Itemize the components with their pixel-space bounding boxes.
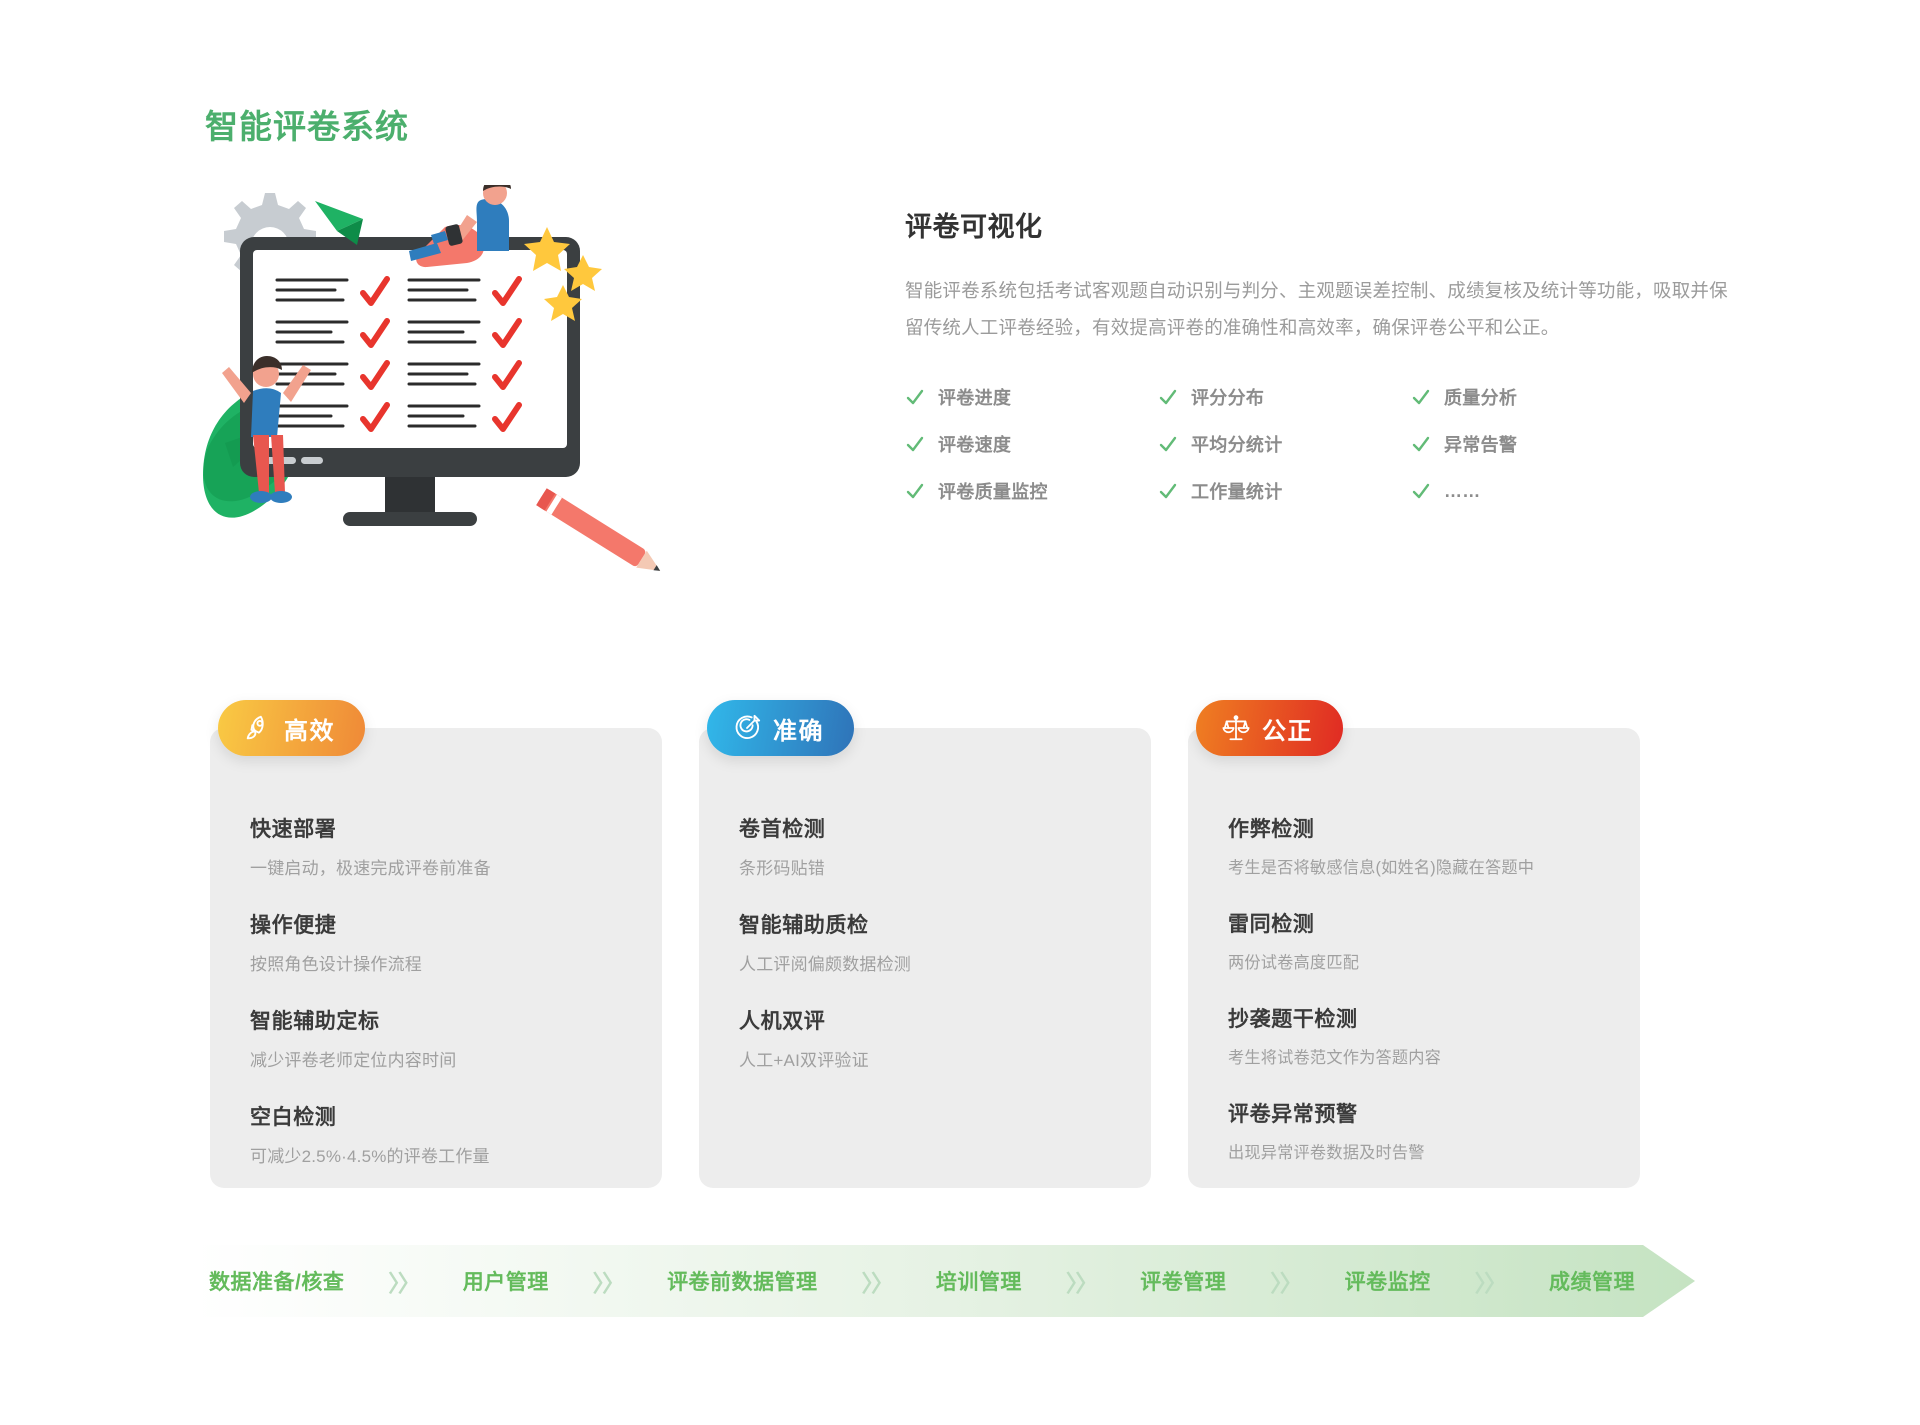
list-item-label: 评卷质量监控 [938, 478, 1048, 504]
check-icon [1411, 434, 1431, 454]
badge-efficient[interactable]: 高效 [218, 700, 365, 756]
pencil-icon [536, 488, 665, 579]
list-item: 平均分统计 [1158, 431, 1411, 457]
flow-step[interactable]: 培训管理 [936, 1266, 1022, 1296]
feature-title: 卷首检测 [739, 813, 1113, 843]
list-item-label: 异常告警 [1444, 431, 1517, 457]
process-flow: 数据准备/核查 〉〉 用户管理 〉〉 评卷前数据管理 〉〉 培训管理 〉〉 评卷… [195, 1245, 1695, 1317]
flow-step[interactable]: 评卷管理 [1140, 1266, 1226, 1296]
chevron-right-icon: 〉〉 [818, 1264, 936, 1298]
list-item: 评卷质量监控 [905, 478, 1158, 504]
chevron-right-icon: 〉〉 [344, 1264, 462, 1298]
check-icon [905, 481, 925, 501]
badge-accurate[interactable]: 准确 [707, 700, 854, 756]
flow-steps: 数据准备/核查 〉〉 用户管理 〉〉 评卷前数据管理 〉〉 培训管理 〉〉 评卷… [195, 1245, 1695, 1317]
check-icon [905, 387, 925, 407]
check-icon [905, 434, 925, 454]
card-body: 卷首检测 条形码贴错 智能辅助质检 人工评阅偏颇数据检测 人机双评 人工+AI双… [699, 728, 1151, 1188]
badge-label: 公正 [1262, 711, 1313, 746]
feature-desc: 人工评阅偏颇数据检测 [739, 950, 1113, 975]
feature-desc: 考生将试卷范文作为答题内容 [1228, 1044, 1602, 1068]
section-paragraph: 智能评卷系统包括考试客观题自动识别与判分、主观题误差控制、成绩复核及统计等功能，… [905, 272, 1737, 346]
section-heading: 评卷可视化 [905, 205, 1735, 244]
feature-item: 抄袭题干检测 考生将试卷范文作为答题内容 [1228, 1003, 1602, 1068]
scales-icon [1221, 713, 1251, 743]
feature-title: 雷同检测 [1228, 908, 1602, 938]
list-item: 评分分布 [1158, 384, 1411, 410]
flow-step[interactable]: 评卷监控 [1345, 1266, 1431, 1296]
check-icon [1158, 481, 1178, 501]
badge-label: 准确 [773, 711, 824, 746]
target-icon [732, 713, 762, 743]
hero-illustration [195, 185, 805, 615]
feature-item: 操作便捷 按照角色设计操作流程 [250, 909, 624, 975]
list-item-label: 平均分统计 [1191, 431, 1283, 457]
feature-title: 作弊检测 [1228, 813, 1602, 843]
illustration-svg [195, 185, 805, 615]
monitor-graphic [240, 237, 580, 526]
capability-checklist: 评卷进度 评分分布 质量分析 评卷速度 平均分统计 异常告警 [905, 384, 1735, 504]
feature-desc: 可减少2.5%·4.5%的评卷工作量 [250, 1142, 624, 1167]
feature-title: 智能辅助定标 [250, 1005, 624, 1035]
feature-title: 快速部署 [250, 813, 624, 843]
feature-title: 人机双评 [739, 1005, 1113, 1035]
list-item-label: 工作量统计 [1191, 478, 1283, 504]
feature-item: 卷首检测 条形码贴错 [739, 813, 1113, 879]
list-item: 异常告警 [1411, 431, 1664, 457]
infographic-page: 智能评卷系统 [0, 0, 1920, 1425]
list-item-label: …… [1444, 481, 1481, 502]
info-block: 评卷可视化 智能评卷系统包括考试客观题自动识别与判分、主观题误差控制、成绩复核及… [905, 205, 1735, 504]
chevron-right-icon: 〉〉 [1226, 1264, 1344, 1298]
list-item-label: 质量分析 [1444, 384, 1517, 410]
list-item: …… [1411, 478, 1664, 504]
feature-desc: 按照角色设计操作流程 [250, 950, 624, 975]
check-icon [1411, 481, 1431, 501]
list-item-label: 评卷进度 [938, 384, 1011, 410]
flow-step[interactable]: 用户管理 [463, 1266, 549, 1296]
feature-title: 评卷异常预警 [1228, 1098, 1602, 1128]
list-item: 工作量统计 [1158, 478, 1411, 504]
feature-desc: 考生是否将敏感信息(如姓名)隐藏在答题中 [1228, 854, 1602, 878]
check-icon [1158, 387, 1178, 407]
feature-title: 抄袭题干检测 [1228, 1003, 1602, 1033]
feature-item: 快速部署 一键启动，极速完成评卷前准备 [250, 813, 624, 879]
feature-desc: 出现异常评卷数据及时告警 [1228, 1139, 1602, 1163]
feature-desc: 减少评卷老师定位内容时间 [250, 1046, 624, 1071]
feature-title: 空白检测 [250, 1101, 624, 1131]
list-item: 评卷进度 [905, 384, 1158, 410]
rocket-icon [243, 713, 273, 743]
feature-item: 空白检测 可减少2.5%·4.5%的评卷工作量 [250, 1101, 624, 1167]
chevron-right-icon: 〉〉 [1431, 1264, 1549, 1298]
badge-label: 高效 [284, 711, 335, 746]
feature-item: 评卷异常预警 出现异常评卷数据及时告警 [1228, 1098, 1602, 1163]
feature-item: 作弊检测 考生是否将敏感信息(如姓名)隐藏在答题中 [1228, 813, 1602, 878]
flow-step[interactable]: 成绩管理 [1549, 1266, 1635, 1296]
check-icon [1411, 387, 1431, 407]
feature-desc: 条形码贴错 [739, 854, 1113, 879]
card-body: 快速部署 一键启动，极速完成评卷前准备 操作便捷 按照角色设计操作流程 智能辅助… [210, 728, 662, 1188]
feature-item: 人机双评 人工+AI双评验证 [739, 1005, 1113, 1071]
feature-desc: 一键启动，极速完成评卷前准备 [250, 854, 624, 879]
list-item: 质量分析 [1411, 384, 1664, 410]
feature-desc: 人工+AI双评验证 [739, 1046, 1113, 1071]
feature-title: 智能辅助质检 [739, 909, 1113, 939]
list-item-label: 评卷速度 [938, 431, 1011, 457]
feature-title: 操作便捷 [250, 909, 624, 939]
feature-desc: 两份试卷高度匹配 [1228, 949, 1602, 973]
flow-step[interactable]: 评卷前数据管理 [667, 1266, 818, 1296]
list-item-label: 评分分布 [1191, 384, 1264, 410]
check-icon [1158, 434, 1178, 454]
card-body: 作弊检测 考生是否将敏感信息(如姓名)隐藏在答题中 雷同检测 两份试卷高度匹配 … [1188, 728, 1640, 1188]
chevron-right-icon: 〉〉 [1022, 1264, 1140, 1298]
feature-item: 智能辅助质检 人工评阅偏颇数据检测 [739, 909, 1113, 975]
chevron-right-icon: 〉〉 [549, 1264, 667, 1298]
feature-item: 雷同检测 两份试卷高度匹配 [1228, 908, 1602, 973]
flow-step[interactable]: 数据准备/核查 [209, 1266, 344, 1296]
list-item: 评卷速度 [905, 431, 1158, 457]
feature-item: 智能辅助定标 减少评卷老师定位内容时间 [250, 1005, 624, 1071]
page-title: 智能评卷系统 [205, 100, 409, 148]
badge-fair[interactable]: 公正 [1196, 700, 1343, 756]
